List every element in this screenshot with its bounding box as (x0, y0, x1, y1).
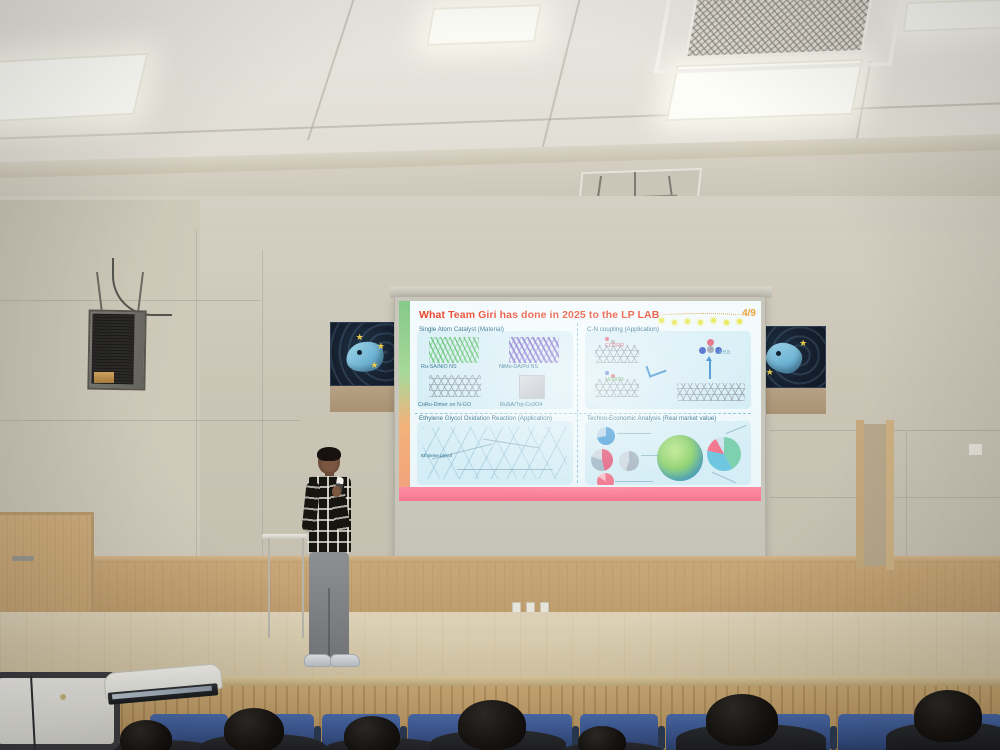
caption-ru-sa-nio: Ru-SA/NiO NS (421, 364, 457, 370)
urea-atom-icon (699, 347, 706, 354)
presenter-hair (317, 447, 341, 461)
urea-arrow-icon (706, 356, 712, 361)
quadrant-single-atom-catalyst (417, 331, 573, 409)
led-panel-light (0, 53, 149, 125)
caption-co2rr: CO2RR (605, 343, 624, 349)
audience-head (706, 694, 778, 746)
presenter-shoe (330, 654, 360, 667)
urea-atom-icon (707, 346, 714, 353)
hvac-vent-grille (684, 0, 874, 59)
wall-seam (906, 430, 907, 560)
quadrant-label-single-atom-catalyst: Single Atom Catalyst (Material) (419, 326, 504, 333)
graphene-graphic (429, 375, 481, 397)
audience-head (578, 726, 626, 750)
string-lights-decoration (657, 312, 749, 326)
pie-chart-icon (619, 451, 639, 471)
caption-no3rr: NO3RR (605, 377, 624, 383)
wall-seam (262, 250, 263, 580)
pie-chart-icon (597, 473, 614, 485)
caption-rusa-trp: RuSA/Trp-Co3O4 (500, 402, 542, 408)
garland-bulb-icon (685, 319, 690, 324)
equipment-cart[interactable] (0, 672, 120, 750)
audience-head (344, 716, 400, 750)
presenter-leg-seam (328, 588, 330, 656)
cart-knob-icon[interactable] (60, 694, 66, 700)
garland-wire (657, 313, 749, 320)
led-panel-light (426, 4, 541, 46)
quadrant-techno-economic (585, 421, 751, 485)
door-frame-right (886, 420, 894, 570)
slide-bottom-accent (399, 487, 761, 501)
door-handle-icon[interactable] (12, 556, 34, 561)
door-frame-right (856, 420, 864, 570)
caption-coru-dimer: CoRu-Dimer on N-GO (418, 402, 471, 408)
pie-chart-icon (597, 427, 615, 445)
garland-bulb-icon (659, 318, 664, 323)
quadrant-label-cn-coupling: C-N coupling (Application) (587, 326, 659, 333)
wainscot-cap-rail (0, 556, 1000, 563)
audience-head (120, 720, 172, 750)
slide-divider-vertical (577, 323, 578, 483)
catalyst-surface-graphic (677, 383, 745, 401)
oxide-cube-graphic (519, 375, 545, 399)
audience-head (458, 700, 526, 750)
audience-head (224, 708, 284, 750)
presenter (300, 448, 358, 680)
seat-armrest (658, 726, 665, 750)
quadrant-label-ethylene-glycol: Ethylene Glycol Oxidation Reaction (Appl… (419, 415, 552, 422)
caption-nimo-da-pd: NiMo-DA/Pd NS (499, 364, 538, 370)
urea-arrow-line (709, 359, 711, 379)
presentation-slide: What Team Giri has done in 2025 to the L… (399, 301, 761, 501)
wall-seam (196, 230, 197, 580)
presenter-hand (332, 486, 341, 497)
quadrant-label-techno-economic: Techno-Economic Analysis (Real market va… (587, 415, 716, 422)
urea-atom-icon (707, 339, 714, 346)
star-icon: ★ (377, 342, 385, 351)
pa-speaker-label (94, 372, 114, 383)
slide-page-indicator: 4/9 (742, 308, 756, 319)
callout-line (617, 433, 651, 434)
light-switch-plate[interactable] (968, 443, 983, 456)
pie-chart-icon (707, 437, 741, 471)
callout-line (641, 455, 659, 456)
callout-line (712, 472, 736, 483)
table-leg (268, 538, 270, 638)
nanosheet-graphic (429, 337, 479, 363)
audience-head (914, 690, 982, 742)
caption-ethylene-glycol: Ethylene glycol (421, 453, 452, 458)
wall-seam (0, 420, 300, 421)
slide-title: What Team Giri has done in 2025 to the L… (419, 309, 659, 321)
coupling-arrow-icon (645, 360, 666, 377)
caption-urea: Urea (715, 349, 730, 356)
presenter-shoe (304, 654, 332, 667)
led-panel-light (903, 0, 1000, 32)
garland-bulb-icon (711, 318, 716, 323)
star-icon: ★ (370, 361, 378, 370)
garland-bulb-icon (698, 320, 703, 325)
star-icon: ★ (356, 333, 364, 342)
globe-icon (657, 435, 703, 481)
garland-bulb-icon (724, 320, 729, 325)
pie-chart-icon (591, 449, 613, 471)
star-icon: ★ (799, 339, 807, 348)
molecule-atom-icon (605, 371, 609, 375)
callout-line (726, 425, 747, 434)
slide-left-decoration (399, 301, 410, 501)
star-icon: ★ (766, 368, 774, 377)
molecule-atom-icon (605, 337, 609, 341)
garland-bulb-icon (672, 320, 677, 325)
nanosheet-graphic (509, 337, 559, 363)
garland-bulb-icon (737, 319, 742, 324)
scheme-connector (457, 469, 553, 470)
slide-divider-horizontal (415, 413, 751, 414)
seat-armrest (830, 726, 837, 750)
auditorium-scene: ★ ★ ★ IC ★ ★ What Team Giri has done in … (0, 0, 1000, 750)
callout-line (615, 481, 653, 482)
doorway-right[interactable] (862, 424, 888, 566)
